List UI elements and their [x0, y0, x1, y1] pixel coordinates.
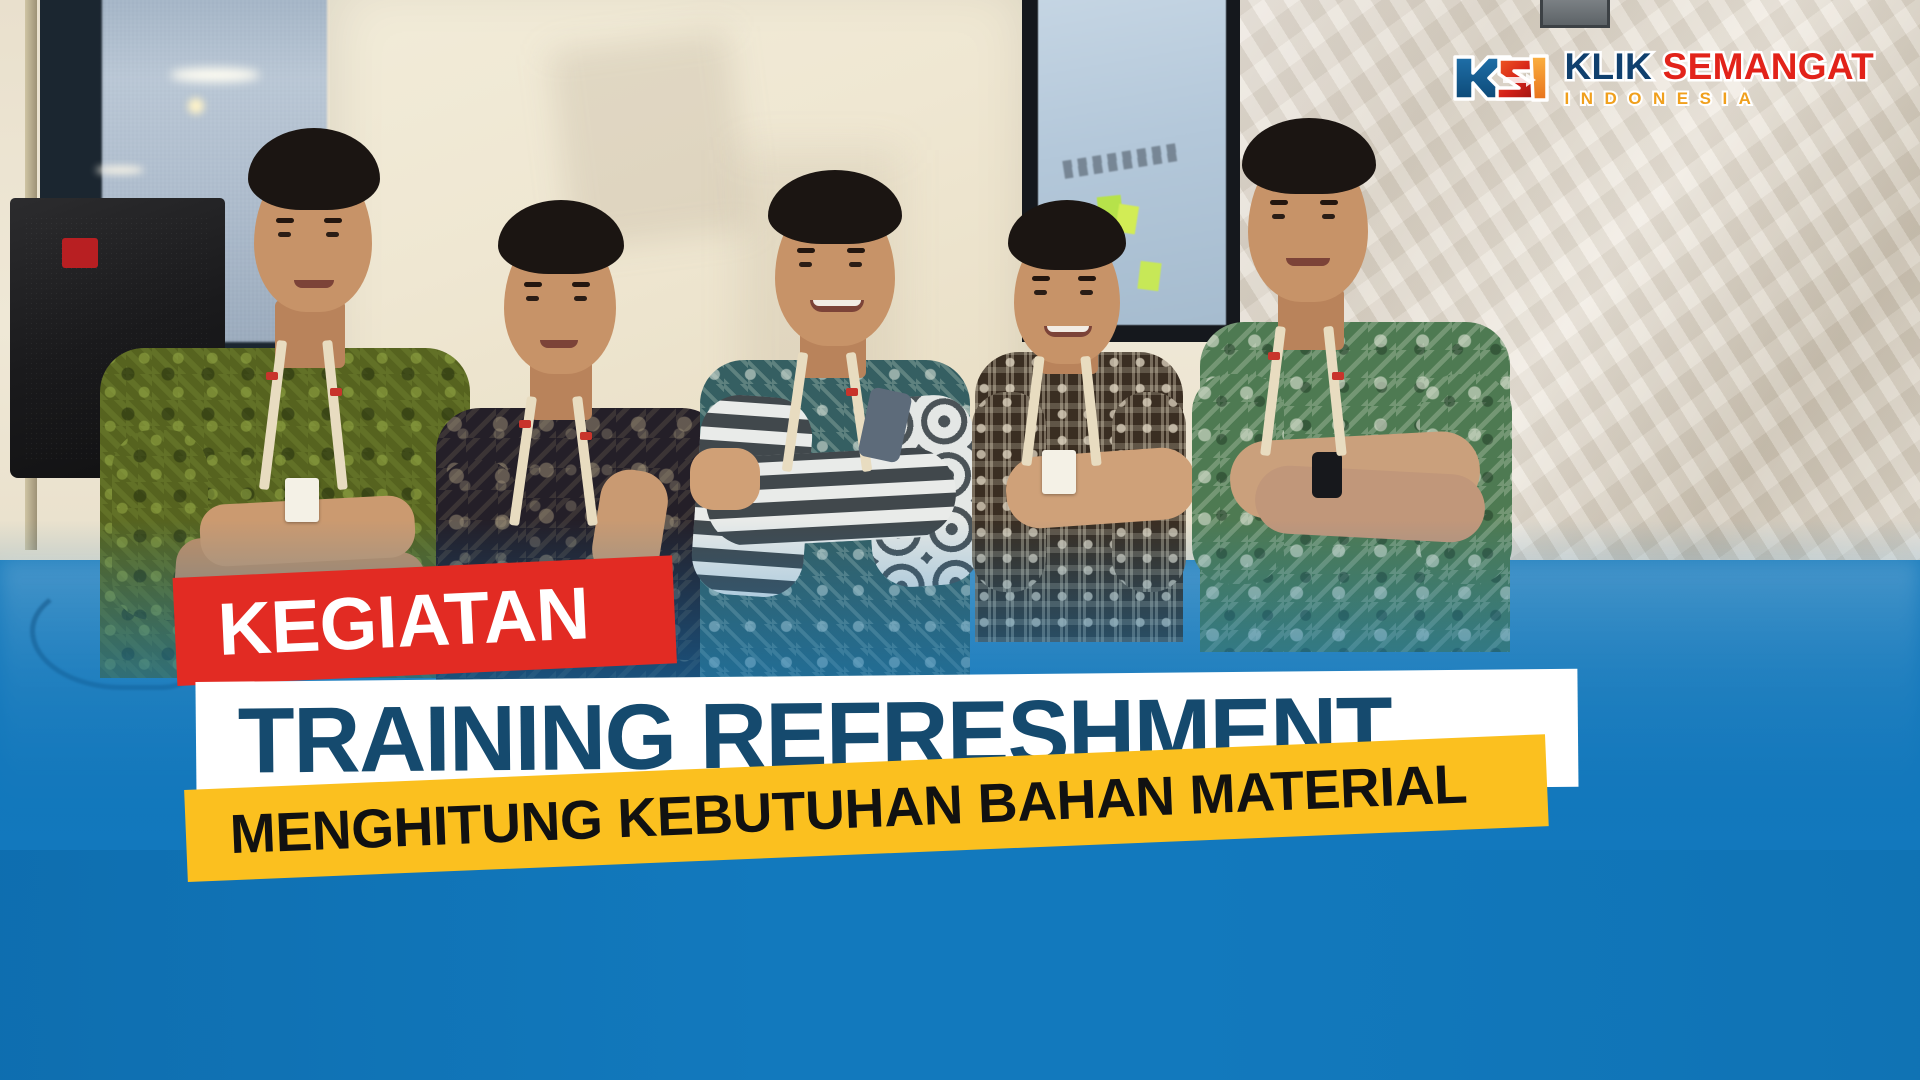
window-reflection-light: [170, 68, 260, 82]
person-2-brow-l: [524, 282, 542, 287]
brand-name-semangat: SEMANGAT: [1663, 46, 1874, 87]
person-4-brow-r: [1078, 276, 1096, 281]
person-3-lanyard-logo: [846, 388, 858, 396]
person-1-brow-l: [276, 218, 294, 223]
speaker-brand-badge: [62, 238, 98, 268]
person-3-teeth: [813, 300, 861, 306]
person-3-eye-r: [849, 262, 862, 267]
person-1-brow-r: [324, 218, 342, 223]
person-5-lanyard-logo: [1268, 352, 1280, 360]
thumbnail-canvas: KLIK SEMANGAT INDONESIA KEGIATAN TRAININ…: [0, 0, 1920, 1080]
brand-logo[interactable]: KLIK SEMANGAT INDONESIA: [1451, 48, 1875, 107]
person-5-watch: [1312, 452, 1342, 498]
person-5-lanyard-logo-2: [1332, 372, 1344, 380]
sticky-note: [1137, 261, 1161, 291]
person-3-brow-r: [847, 248, 865, 253]
person-1-lanyard-logo-2: [330, 388, 342, 396]
person-5-brow-l: [1270, 200, 1288, 205]
person-3-brow-l: [797, 248, 815, 253]
person-4-brow-l: [1032, 276, 1050, 281]
brand-name-klik: KLIK: [1565, 46, 1653, 87]
brand-tagline: INDONESIA: [1565, 90, 1875, 107]
person-1-badge: [285, 478, 319, 522]
ceiling-light-fixture: [1540, 0, 1610, 28]
person-5-mouth: [1286, 258, 1330, 266]
person-4-eye-l: [1034, 290, 1047, 295]
person-4-badge: [1042, 450, 1076, 494]
person-1-eye-r: [326, 232, 339, 237]
window-reflection-spot: [188, 98, 204, 114]
person-5-forearm-2: [1253, 464, 1486, 544]
brand-wordmark: KLIK SEMANGAT INDONESIA: [1565, 48, 1875, 107]
person-4-teeth: [1047, 326, 1089, 332]
brand-name-line: KLIK SEMANGAT: [1565, 48, 1875, 85]
person-2-mouth: [540, 340, 578, 348]
person-5-eye-l: [1272, 214, 1285, 219]
person-2-lanyard-logo-2: [580, 432, 592, 440]
person-2-brow-r: [572, 282, 590, 287]
person-2-lanyard-logo: [519, 420, 531, 428]
title-eyebrow-band[interactable]: KEGIATAN: [173, 555, 677, 686]
person-1-eye-l: [278, 232, 291, 237]
person-5-brow-r: [1320, 200, 1338, 205]
title-eyebrow-text: KEGIATAN: [216, 576, 590, 667]
person-1-lanyard-logo: [266, 372, 278, 380]
person-4-eye-r: [1080, 290, 1093, 295]
person-2-eye-l: [526, 296, 539, 301]
person-2-eye-r: [574, 296, 587, 301]
person-1-mouth: [294, 280, 334, 288]
event-photo: [0, 0, 1920, 1080]
window-reflection-streak: [96, 166, 144, 174]
person-3-eye-l: [799, 262, 812, 267]
ksi-monogram-icon: [1451, 49, 1551, 107]
person-3-hand: [690, 448, 760, 510]
person-5-eye-r: [1322, 214, 1335, 219]
